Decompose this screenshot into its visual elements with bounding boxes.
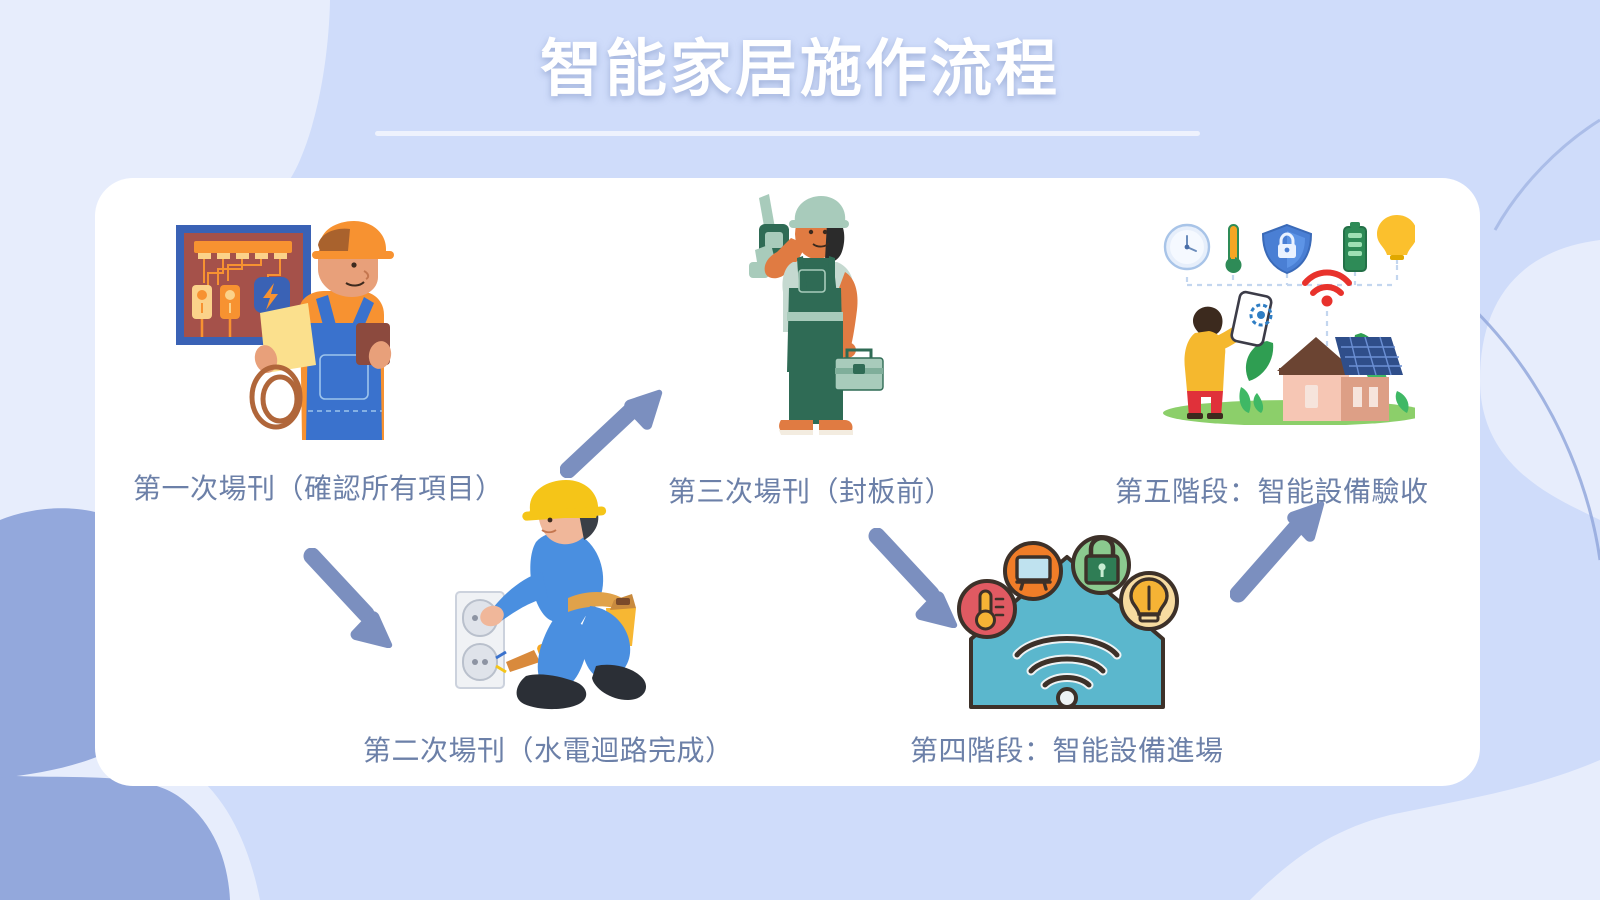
title-divider: [375, 131, 1200, 136]
step-label-3: 第三次場刊（封板前）: [668, 470, 953, 510]
smart-home-wifi-house-icon: [955, 515, 1180, 715]
step-label-1: 第一次場刊（確認所有項目）: [133, 467, 504, 507]
arrow-step1-to-step3: [560, 388, 665, 478]
electrician-installing-outlet-icon: [450, 480, 680, 720]
worker-with-drill-toolbox-icon: [725, 192, 885, 442]
title-container: 智能家居施作流程: [0, 36, 1600, 104]
arrow-step4-to-step5: [1230, 498, 1325, 603]
step-label-2: 第二次場刊（水電迴路完成）: [363, 729, 734, 769]
page-title: 智能家居施作流程: [540, 36, 1060, 104]
arrow-step3-to-step4: [865, 528, 960, 628]
step-label-5: 第五階段：智能設備驗收: [1115, 470, 1429, 510]
step-label-4: 第四階段：智能設備進場: [910, 729, 1224, 769]
arrow-step1-to-step2: [300, 548, 395, 648]
electrician-inspecting-panel-icon: [168, 215, 438, 450]
infographic-canvas: 智能家居施作流程: [0, 0, 1600, 900]
smart-home-acceptance-icon: [1145, 205, 1415, 425]
